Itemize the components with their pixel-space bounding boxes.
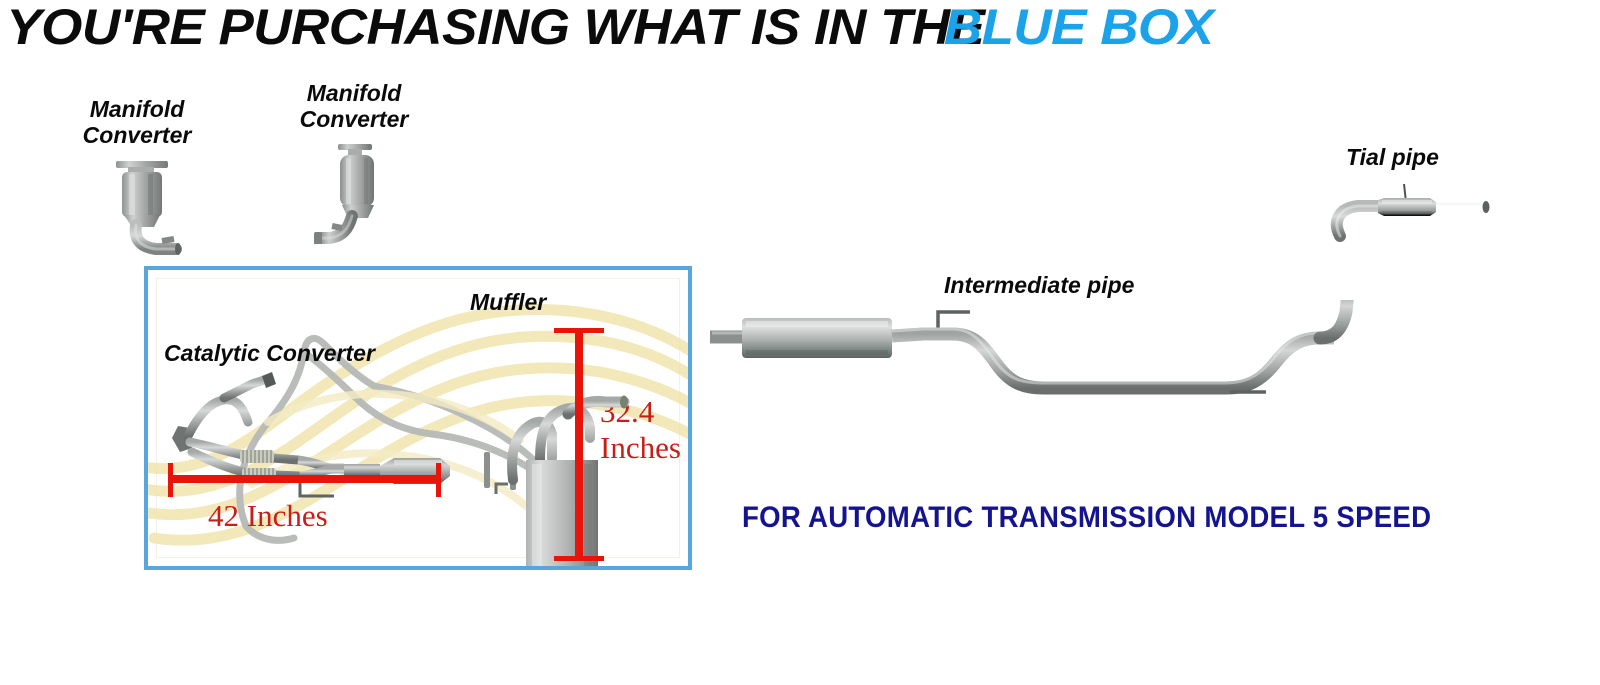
listing-graphic-canvas: YOU'RE PURCHASING WHAT IS IN THE BLUE BO… xyxy=(0,0,1600,685)
label-muffler: Muffler xyxy=(470,289,610,315)
banner-headline-blue: BLUE BOX xyxy=(929,0,1213,54)
manifold-converter-icon xyxy=(312,140,408,244)
header-banner: YOU'RE PURCHASING WHAT IS IN THE BLUE BO… xyxy=(0,0,1600,56)
blue-box-highlight-region: Catalytic Converter Muffler xyxy=(144,266,692,570)
label-manifold-converter-right: Manifold Converter xyxy=(274,80,434,132)
dimension-tick-bottom xyxy=(554,556,604,561)
label-catalytic-converter: Catalytic Converter xyxy=(164,340,464,366)
label-tail-pipe: Tial pipe xyxy=(1346,144,1486,170)
label-intermediate-pipe: Intermediate pipe xyxy=(944,272,1214,298)
dimension-bar-height xyxy=(575,328,583,560)
banner-headline-black: YOU'RE PURCHASING WHAT IS IN THE xyxy=(0,0,985,54)
dimension-tick-right xyxy=(436,463,441,497)
label-manifold-converter-left: Manifold Converter xyxy=(62,96,212,148)
manifold-converter-icon xyxy=(100,155,196,255)
footer-transmission-note: FOR AUTOMATIC TRANSMISSION MODEL 5 SPEED xyxy=(742,501,1431,535)
tail-pipe-icon xyxy=(1318,178,1498,248)
dimension-bar-length xyxy=(168,475,441,483)
catalytic-converter-and-muffler-icon xyxy=(148,270,692,570)
intermediate-pipe-assembly-icon xyxy=(706,300,1586,500)
